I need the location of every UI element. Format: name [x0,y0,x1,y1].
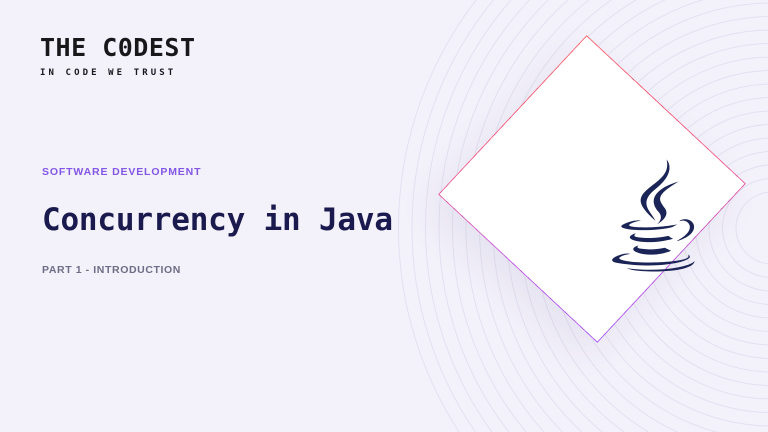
card-gradient-border [438,35,746,343]
brand-logo[interactable]: THE C0DEST IN CODE WE TRUST [40,34,196,79]
brand-wordmark: THE C0DEST [40,34,196,62]
java-logo [597,158,709,273]
article-cover: THE C0DEST IN CODE WE TRUST SOFTWARE DEV… [0,0,768,432]
article-title: Concurrency in Java [42,201,462,239]
rotated-card [438,35,746,343]
brand-tagline: IN CODE WE TRUST [40,67,196,79]
article-category: SOFTWARE DEVELOPMENT [42,165,462,179]
article-copy: SOFTWARE DEVELOPMENT Concurrency in Java… [42,165,462,277]
article-part: PART 1 - INTRODUCTION [42,263,462,277]
